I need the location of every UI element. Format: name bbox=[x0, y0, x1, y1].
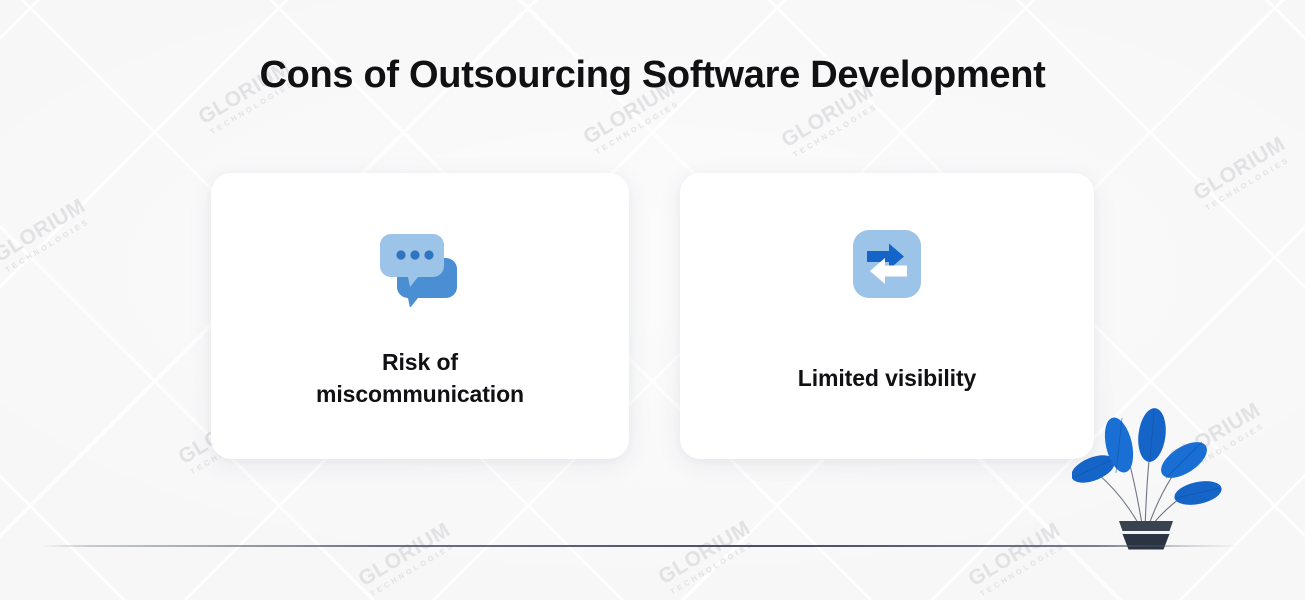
watermark-tagline: TECHNOLOGIES bbox=[792, 101, 882, 159]
watermark-tagline: TECHNOLOGIES bbox=[1204, 154, 1294, 212]
dot-1 bbox=[396, 250, 405, 259]
exchange-arrows-icon bbox=[680, 230, 1094, 298]
watermark: GLORIUM TECHNOLOGIES bbox=[1190, 133, 1294, 213]
watermark-brand: GLORIUM bbox=[655, 517, 754, 588]
watermark: GLORIUM TECHNOLOGIES bbox=[965, 519, 1069, 599]
watermark-brand: GLORIUM bbox=[965, 519, 1064, 590]
card-label-line-1: Risk of bbox=[382, 349, 458, 375]
watermark-tagline: TECHNOLOGIES bbox=[369, 540, 459, 598]
dot-3 bbox=[424, 250, 433, 259]
card-limited-visibility: Limited visibility bbox=[680, 173, 1094, 459]
watermark-brand: GLORIUM bbox=[0, 195, 89, 266]
card-label: Risk of miscommunication bbox=[239, 347, 601, 410]
page-title: Cons of Outsourcing Software Development bbox=[0, 54, 1305, 97]
ground-line bbox=[40, 545, 1240, 547]
pot-gap bbox=[1119, 532, 1173, 534]
watermark-tagline: TECHNOLOGIES bbox=[594, 98, 684, 156]
watermark: GLORIUM TECHNOLOGIES bbox=[0, 195, 94, 275]
card-label-line-1: Limited visibility bbox=[798, 365, 976, 391]
watermark-brand: GLORIUM bbox=[355, 519, 454, 590]
card-label: Limited visibility bbox=[708, 363, 1066, 395]
watermark-tagline: TECHNOLOGIES bbox=[979, 540, 1069, 598]
watermark-brand: GLORIUM bbox=[1190, 133, 1289, 204]
card-label-line-2: miscommunication bbox=[316, 381, 524, 407]
infographic-canvas: GLORIUM TECHNOLOGIES GLORIUM TECHNOLOGIE… bbox=[0, 0, 1305, 600]
pot-body bbox=[1123, 534, 1170, 550]
icon-tile bbox=[853, 230, 921, 298]
potted-plant-illustration bbox=[1072, 408, 1222, 550]
dot-2 bbox=[410, 250, 419, 259]
watermark: GLORIUM TECHNOLOGIES bbox=[655, 517, 759, 597]
pot-rim bbox=[1119, 521, 1173, 531]
watermark: GLORIUM TECHNOLOGIES bbox=[355, 519, 459, 599]
card-risk-of-miscommunication: Risk of miscommunication bbox=[211, 173, 629, 459]
watermark-tagline: TECHNOLOGIES bbox=[4, 216, 94, 274]
speech-bubbles-icon bbox=[211, 231, 629, 307]
